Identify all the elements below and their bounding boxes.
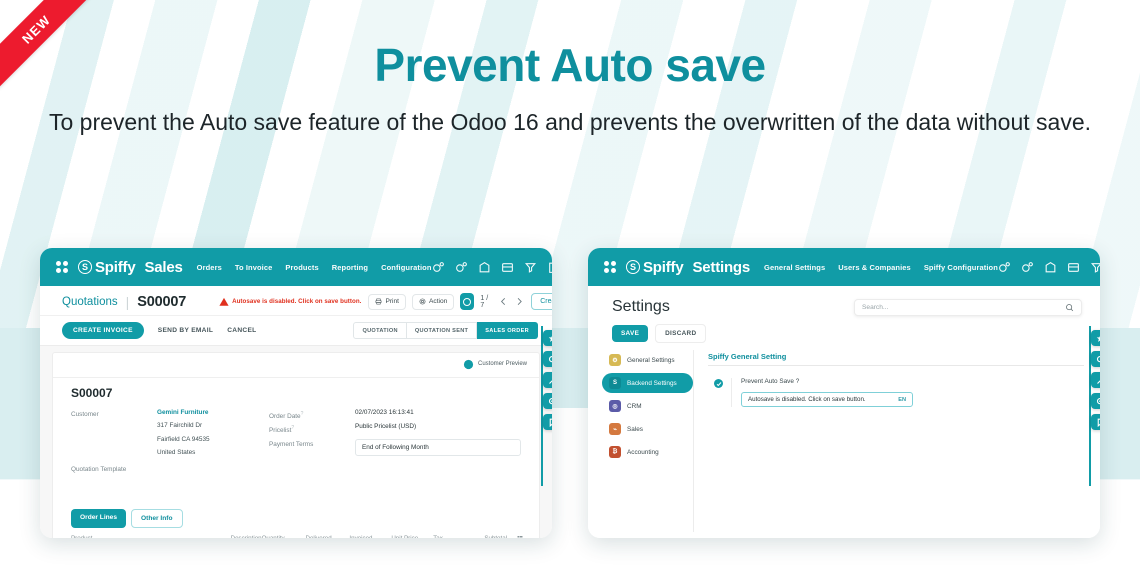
stage-quotation[interactable]: QUOTATION — [353, 322, 406, 339]
search-icon[interactable] — [543, 351, 552, 367]
menu-item-to-invoice[interactable]: To Invoice — [235, 263, 273, 272]
create-button[interactable]: Create — [531, 293, 552, 310]
search-input[interactable] — [862, 304, 1060, 311]
chatter-rail — [1091, 330, 1100, 430]
slide-root: NEW Prevent Auto save To prevent the Aut… — [0, 0, 1140, 578]
brand-name: Spiffy — [95, 259, 135, 276]
cancel-button[interactable]: CANCEL — [227, 327, 256, 334]
sidebar-label-backend-settings: Backend Settings — [627, 380, 677, 387]
gear-icon: ⚙ — [609, 354, 621, 366]
autosave-warning-text: Autosave is disabled. Click on save butt… — [232, 298, 361, 305]
menu-item-spiffy-configuration[interactable]: Spiffy Configuration — [924, 263, 998, 272]
apps-menu-icon[interactable] — [56, 261, 68, 273]
sales-menu: Orders To Invoice Products Reporting Con… — [197, 263, 432, 272]
field-address-line2: Fairfield CA 94535 — [71, 435, 255, 446]
record-indicator-button[interactable] — [460, 293, 474, 310]
zoom-icon[interactable] — [543, 393, 552, 409]
menu-item-general-settings[interactable]: General Settings — [764, 263, 825, 272]
record-title: S00007 — [71, 386, 112, 400]
sidebar-item-sales[interactable]: ⌁ Sales — [602, 419, 693, 439]
activity-icon[interactable] — [455, 261, 468, 274]
menu-item-configuration[interactable]: Configuration — [381, 263, 431, 272]
stage-quotation-sent[interactable]: QUOTATION SENT — [407, 322, 477, 339]
action-label: Action — [429, 298, 447, 305]
settings-navbar-icons — [998, 257, 1100, 277]
settings-menu: General Settings Users & Companies Spiff… — [764, 263, 998, 272]
warning-triangle-icon — [219, 297, 229, 307]
autosave-message-input[interactable] — [748, 396, 898, 403]
brand-logo[interactable]: S Spiffy — [78, 259, 135, 276]
field-pricelist: Pricelist? Public Pricelist (USD) — [269, 423, 521, 434]
payment-terms-input[interactable]: End of Following Month — [355, 439, 521, 456]
field-address-line3: United States — [71, 448, 255, 459]
customer-preview-label: Customer Preview — [478, 361, 527, 369]
field-quotation-template: Quotation Template — [71, 464, 255, 473]
search-icon[interactable] — [1065, 303, 1074, 312]
sidebar-label-general-settings: General Settings — [627, 357, 675, 364]
page-title: Prevent Auto save — [0, 40, 1140, 91]
note-icon[interactable] — [547, 261, 552, 274]
field-label-order-date: Order Date — [269, 413, 301, 420]
field-payment-terms: Payment Terms End of Following Month — [269, 439, 521, 456]
expand-icon[interactable] — [1091, 372, 1100, 388]
tab-other-info[interactable]: Other Info — [131, 509, 183, 528]
sidebar-label-accounting: Accounting — [627, 449, 659, 456]
print-label: Print — [385, 298, 399, 305]
accounting-icon: ₿ — [609, 446, 621, 458]
gear-icon — [419, 298, 426, 305]
app-name: Sales — [144, 259, 182, 276]
order-lines-header: Product Description Quantity Delivered I… — [71, 535, 523, 538]
breadcrumb-current: S00007 — [137, 294, 186, 310]
sidebar-item-accounting[interactable]: ₿ Accounting — [602, 442, 693, 462]
settings-app-screenshot: S Spiffy Settings General Settings Users… — [588, 248, 1100, 538]
statusbar: CREATE INVOICE SEND BY EMAIL CANCEL QUOT… — [40, 316, 552, 346]
prevent-auto-save-option: Prevent Auto Save ? EN — [708, 378, 1084, 407]
column-description: Description — [231, 535, 262, 538]
menu-item-reporting[interactable]: Reporting — [332, 263, 368, 272]
messaging-icon[interactable] — [432, 261, 445, 274]
breadcrumb-separator: | — [126, 294, 130, 310]
hero-section: Prevent Auto save To prevent the Auto sa… — [0, 40, 1140, 138]
address-line-3: United States — [157, 448, 195, 459]
sidebar-item-crm[interactable]: ◎ CRM — [602, 396, 693, 416]
brand-name: Spiffy — [643, 259, 683, 276]
menu-item-users-companies[interactable]: Users & Companies — [838, 263, 911, 272]
check-icon — [716, 381, 722, 387]
search-icon[interactable] — [1091, 351, 1100, 367]
field-label-quotation-template: Quotation Template — [71, 464, 157, 473]
column-options-icon[interactable] — [507, 535, 523, 538]
upgrade-icon[interactable] — [1044, 261, 1057, 274]
sidebar-label-sales: Sales — [627, 426, 643, 433]
field-customer: Customer Gemini Furniture — [71, 409, 255, 418]
bookmark-icon[interactable] — [543, 414, 552, 430]
brand-logo[interactable]: S Spiffy — [626, 259, 683, 276]
stage-sales-order[interactable]: SALES ORDER — [477, 322, 538, 339]
form-grid: Customer Gemini Furniture 317 Fairchild … — [71, 409, 521, 476]
control-panel-right: Print Action 1 / 7 Create — [368, 293, 552, 310]
column-delivered: Delivered — [306, 535, 350, 538]
apps-icon[interactable] — [501, 261, 514, 274]
sheet-background: Customer Preview S00007 Customer Gemini … — [40, 346, 552, 538]
sidebar-item-general-settings[interactable]: ⚙ General Settings — [602, 350, 693, 370]
tab-order-lines[interactable]: Order Lines — [71, 509, 126, 528]
column-unit-price: Unit Price — [391, 535, 433, 538]
apps-icon[interactable] — [1067, 261, 1080, 274]
chatter-rail — [543, 330, 552, 430]
column-invoiced: Invoiced — [349, 535, 391, 538]
sidebar-item-backend-settings[interactable]: S Backend Settings — [602, 373, 693, 393]
bookmark-icon[interactable] — [1091, 414, 1100, 430]
settings-body: Settings SAVE DISCARD ⚙ General Settings — [588, 286, 1100, 538]
settings-content: Spiffy General Setting Prevent Auto Save… — [694, 350, 1100, 532]
star-icon[interactable] — [1091, 330, 1100, 346]
next-record-icon[interactable] — [514, 295, 525, 308]
field-label-customer: Customer — [71, 409, 157, 418]
print-button[interactable]: Print — [368, 294, 406, 310]
sales-navbar: S Spiffy Sales Orders To Invoice Product… — [40, 248, 552, 286]
page-subtitle: To prevent the Auto save feature of the … — [0, 107, 1140, 138]
field-order-date: Order Date? 02/07/2023 16:13:41 — [269, 409, 521, 420]
apps-menu-icon[interactable] — [604, 261, 616, 273]
column-quantity: Quantity — [262, 535, 306, 538]
settings-header: Settings — [588, 286, 1100, 316]
app-name: Settings — [692, 259, 750, 276]
menu-item-products[interactable]: Products — [285, 263, 318, 272]
crm-icon: ◎ — [609, 400, 621, 412]
menu-item-orders[interactable]: Orders — [197, 263, 222, 272]
autosave-warning: Autosave is disabled. Click on save butt… — [219, 297, 361, 307]
create-invoice-button[interactable]: CREATE INVOICE — [62, 322, 144, 339]
action-button[interactable]: Action — [412, 294, 454, 310]
field-address-line1: 317 Fairchild Dr — [71, 421, 255, 432]
stage-pipeline: QUOTATION QUOTATION SENT SALES ORDER — [353, 322, 538, 339]
debug-icon[interactable] — [524, 261, 537, 274]
breadcrumb-root[interactable]: Quotations — [62, 296, 118, 308]
settings-sidebar: ⚙ General Settings S Backend Settings ◎ … — [588, 350, 694, 532]
section-title: Spiffy General Setting — [708, 352, 1084, 366]
settings-navbar: S Spiffy Settings General Settings Users… — [588, 248, 1100, 286]
prevent-auto-save-label: Prevent Auto Save ? — [741, 378, 1084, 385]
sheet-tabs: Order Lines Other Info — [71, 509, 183, 528]
star-icon[interactable] — [543, 330, 552, 346]
autosave-message-field[interactable]: EN — [741, 392, 913, 407]
customer-preview-button[interactable]: Customer Preview — [463, 359, 527, 370]
column-tax: Tax... — [433, 535, 461, 538]
settings-page-title: Settings — [612, 298, 670, 316]
record-sheet: Customer Preview S00007 Customer Gemini … — [52, 352, 540, 538]
print-icon — [375, 298, 382, 305]
expand-icon[interactable] — [543, 372, 552, 388]
save-button[interactable]: SAVE — [612, 325, 648, 342]
globe-icon — [463, 359, 474, 370]
form-column-right: Order Date? 02/07/2023 16:13:41 Pricelis… — [255, 409, 521, 476]
messaging-icon[interactable] — [998, 261, 1011, 274]
address-line-1: 317 Fairchild Dr — [157, 421, 202, 432]
field-label-pricelist: Pricelist — [269, 427, 291, 434]
field-value-order-date[interactable]: 02/07/2023 16:13:41 — [355, 409, 414, 420]
sales-app-screenshot: S Spiffy Sales Orders To Invoice Product… — [40, 248, 552, 538]
discard-button[interactable]: DISCARD — [655, 324, 706, 343]
control-panel: Quotations | S00007 Autosave is disabled… — [40, 286, 552, 316]
upgrade-icon[interactable] — [478, 261, 491, 274]
field-value-customer[interactable]: Gemini Furniture — [157, 409, 208, 418]
language-badge[interactable]: EN — [898, 397, 906, 403]
column-product: Product — [71, 535, 231, 538]
field-value-pricelist[interactable]: Public Pricelist (USD) — [355, 423, 416, 434]
debug-icon[interactable] — [1090, 261, 1100, 274]
previous-record-icon[interactable] — [498, 295, 509, 308]
sidebar-label-crm: CRM — [627, 403, 642, 410]
sheet-divider — [53, 377, 539, 378]
sales-icon: ⌁ — [609, 423, 621, 435]
settings-main: ⚙ General Settings S Backend Settings ◎ … — [588, 350, 1100, 532]
brand-mark-icon: S — [78, 260, 92, 274]
spiffy-icon: S — [609, 377, 621, 389]
field-label-payment-terms: Payment Terms — [269, 439, 355, 456]
zoom-icon[interactable] — [1091, 393, 1100, 409]
address-line-2: Fairfield CA 94535 — [157, 435, 210, 446]
pager-counter: 1 / 7 — [480, 295, 491, 309]
search-box[interactable] — [854, 299, 1082, 316]
sales-navbar-icons — [432, 257, 552, 277]
column-subtotal: Subtotal — [461, 535, 507, 538]
send-by-email-button[interactable]: SEND BY EMAIL — [158, 327, 213, 334]
prevent-auto-save-checkbox[interactable] — [714, 379, 723, 388]
activity-icon[interactable] — [1021, 261, 1034, 274]
settings-actions: SAVE DISCARD — [588, 316, 1100, 343]
brand-mark-icon: S — [626, 260, 640, 274]
form-column-left: Customer Gemini Furniture 317 Fairchild … — [71, 409, 255, 476]
